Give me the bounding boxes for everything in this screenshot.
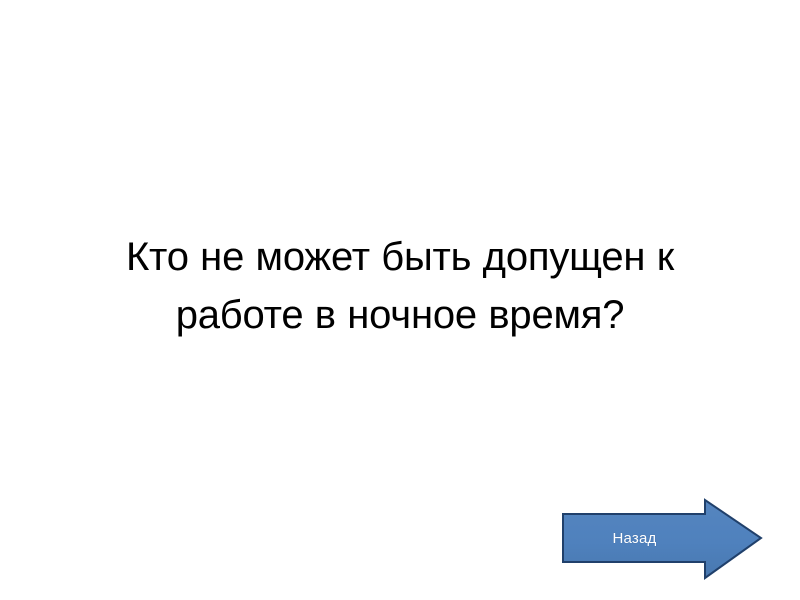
- question-text: Кто не может быть допущен к работе в ноч…: [40, 228, 760, 344]
- slide-canvas: Кто не может быть допущен к работе в ноч…: [0, 0, 800, 600]
- back-arrow-button[interactable]: Назад: [560, 498, 764, 580]
- question-block: Кто не может быть допущен к работе в ноч…: [40, 228, 760, 344]
- right-arrow-icon: [560, 498, 764, 580]
